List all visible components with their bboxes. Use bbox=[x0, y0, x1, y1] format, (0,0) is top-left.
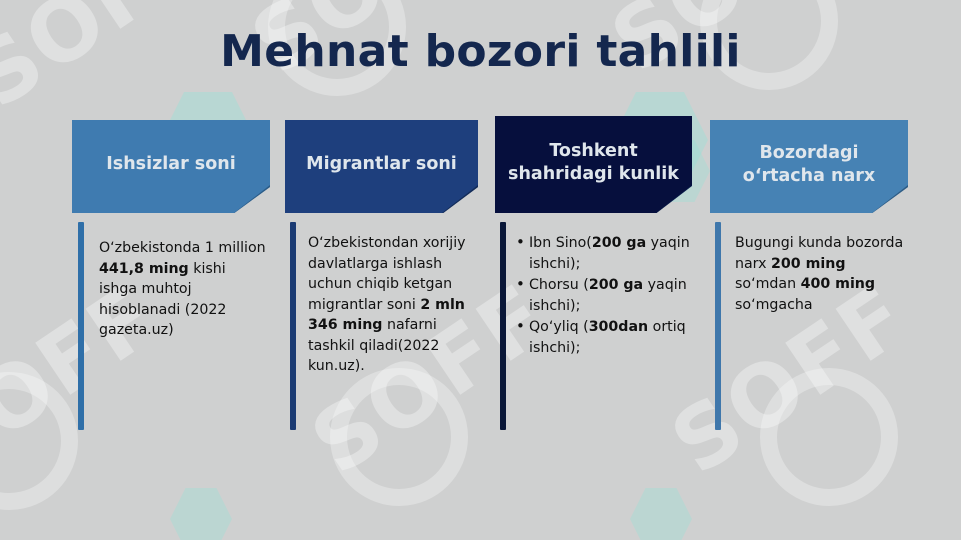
card-header-label: Toshkent shahridagi kunlik bbox=[507, 140, 680, 186]
card-header[interactable]: Migrantlar soni bbox=[285, 120, 478, 213]
accent-bar bbox=[500, 222, 506, 430]
column-bozordagi-ortacha-narx: Bozordagi o‘rtacha narx Bugungi kunda bo… bbox=[710, 120, 908, 213]
page-title: Mehnat bozori tahlili bbox=[0, 26, 961, 77]
accent-bar bbox=[290, 222, 296, 430]
body-text-emphasis: 300dan bbox=[589, 319, 648, 335]
folded-corner-icon bbox=[234, 185, 270, 213]
body-text-emphasis: 200 ga bbox=[592, 235, 646, 251]
list-item: Qo‘yliq (300dan ortiq ishchi); bbox=[516, 317, 692, 358]
body-text-run: O‘zbekistonda 1 million bbox=[99, 240, 266, 256]
card-body: O‘zbekistondan xorijiy davlatlarga ishla… bbox=[308, 233, 474, 377]
accent-bar bbox=[78, 222, 84, 430]
card-header-label: Ishsizlar soni bbox=[106, 153, 235, 176]
card-body: Bugungi kunda bozorda narx 200 ming so‘m… bbox=[735, 233, 905, 315]
card-body: Ibn Sino(200 ga yaqin ishchi);Chorsu (20… bbox=[516, 233, 692, 359]
slide-canvas: Mehnat bozori tahlili Ishsizlar soni O‘z… bbox=[0, 0, 961, 540]
body-text-run: so‘mgacha bbox=[735, 297, 813, 313]
column-ishsizlar-soni: Ishsizlar soni O‘zbekistonda 1 million 4… bbox=[72, 120, 270, 213]
body-text-emphasis: 400 ming bbox=[801, 276, 875, 292]
body-text-run: Ibn Sino( bbox=[529, 235, 592, 251]
bullet-list: Ibn Sino(200 ga yaqin ishchi);Chorsu (20… bbox=[516, 233, 692, 358]
folded-corner-icon bbox=[442, 185, 478, 213]
list-item: Ibn Sino(200 ga yaqin ishchi); bbox=[516, 233, 692, 274]
column-migrantlar-soni: Migrantlar soni O‘zbekistondan xorijiy d… bbox=[285, 120, 478, 213]
list-item: Chorsu (200 ga yaqin ishchi); bbox=[516, 275, 692, 316]
card-header[interactable]: Bozordagi o‘rtacha narx bbox=[710, 120, 908, 213]
body-text-emphasis: 200 ming bbox=[771, 256, 845, 272]
body-text-emphasis: 441,8 ming bbox=[99, 261, 189, 277]
folded-corner-icon bbox=[872, 185, 908, 213]
card-header-label: Migrantlar soni bbox=[306, 153, 457, 176]
card-header[interactable]: Ishsizlar soni bbox=[72, 120, 270, 213]
accent-bar bbox=[715, 222, 721, 430]
body-text-emphasis: 200 ga bbox=[589, 277, 643, 293]
column-toshkent-shahridagi-kunlik: Toshkent shahridagi kunlik Ibn Sino(200 … bbox=[495, 116, 692, 213]
body-text-run: Chorsu ( bbox=[529, 277, 589, 293]
body-text-run: Qo‘yliq ( bbox=[529, 319, 589, 335]
card-header[interactable]: Toshkent shahridagi kunlik bbox=[495, 116, 692, 213]
card-header-label: Bozordagi o‘rtacha narx bbox=[722, 142, 896, 188]
card-body: O‘zbekistonda 1 million 441,8 ming kishi… bbox=[99, 238, 267, 341]
body-text-run: so‘mdan bbox=[735, 276, 801, 292]
folded-corner-icon bbox=[656, 185, 692, 213]
